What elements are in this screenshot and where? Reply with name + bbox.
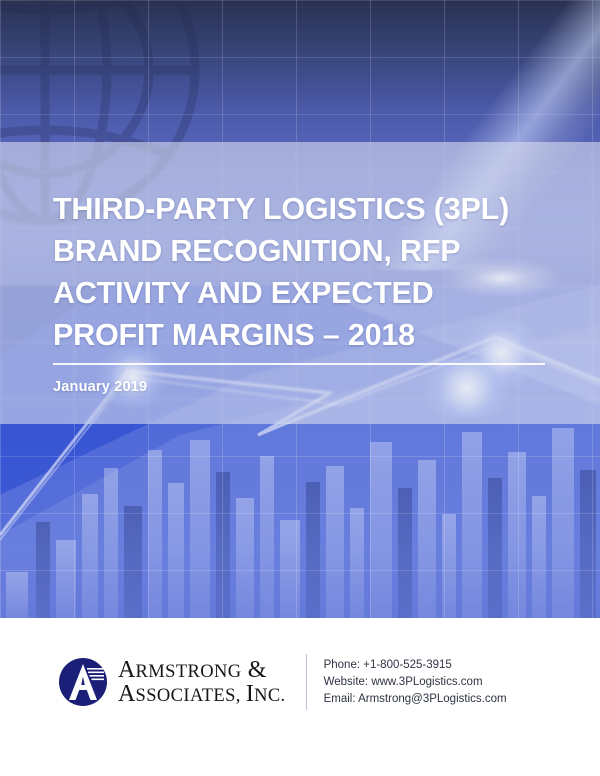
company-branding: ARMSTRONG & ASSOCIATES, INC. xyxy=(58,657,286,707)
footer-divider xyxy=(306,654,307,710)
company-name-body-2: SSOCIATES xyxy=(136,686,236,706)
contact-website: Website: www.3PLogistics.com xyxy=(324,674,507,691)
contact-info: Phone: +1-800-525-3915 Website: www.3PLo… xyxy=(324,657,507,708)
title-line-2: BRAND RECOGNITION, RFP xyxy=(53,230,552,272)
cover-page: THIRD-PARTY LOGISTICS (3PL) BRAND RECOGN… xyxy=(0,0,600,776)
inc-body: NC. xyxy=(254,686,286,706)
title-line-4: PROFIT MARGINS – 2018 xyxy=(53,314,552,356)
company-name: ARMSTRONG & ASSOCIATES, INC. xyxy=(118,658,286,707)
company-name-body: RMSTRONG xyxy=(136,662,242,682)
publication-date: January 2019 xyxy=(53,379,552,395)
title-line-3: ACTIVITY AND EXPECTED xyxy=(53,272,552,314)
company-name-comma: , xyxy=(236,686,246,706)
page-title: THIRD-PARTY LOGISTICS (3PL) BRAND RECOGN… xyxy=(53,188,552,356)
ampersand: & xyxy=(242,657,267,683)
company-name-line-2: ASSOCIATES, INC. xyxy=(118,682,286,706)
company-name-initial: A xyxy=(118,657,136,683)
title-underline-rule xyxy=(53,363,545,365)
armstrong-a-circle-logo-icon xyxy=(58,657,108,707)
company-name-initial-2: A xyxy=(118,681,136,707)
title-line-1: THIRD-PARTY LOGISTICS (3PL) xyxy=(53,188,552,230)
inc-initial: I xyxy=(246,681,254,707)
contact-phone: Phone: +1-800-525-3915 xyxy=(324,657,507,674)
cover-footer: ARMSTRONG & ASSOCIATES, INC. Phone: +1-8… xyxy=(0,618,600,776)
contact-email: Email: Armstrong@3PLogistics.com xyxy=(324,691,507,708)
title-overlay-band: THIRD-PARTY LOGISTICS (3PL) BRAND RECOGN… xyxy=(0,142,600,424)
company-name-line-1: ARMSTRONG & xyxy=(118,658,286,682)
